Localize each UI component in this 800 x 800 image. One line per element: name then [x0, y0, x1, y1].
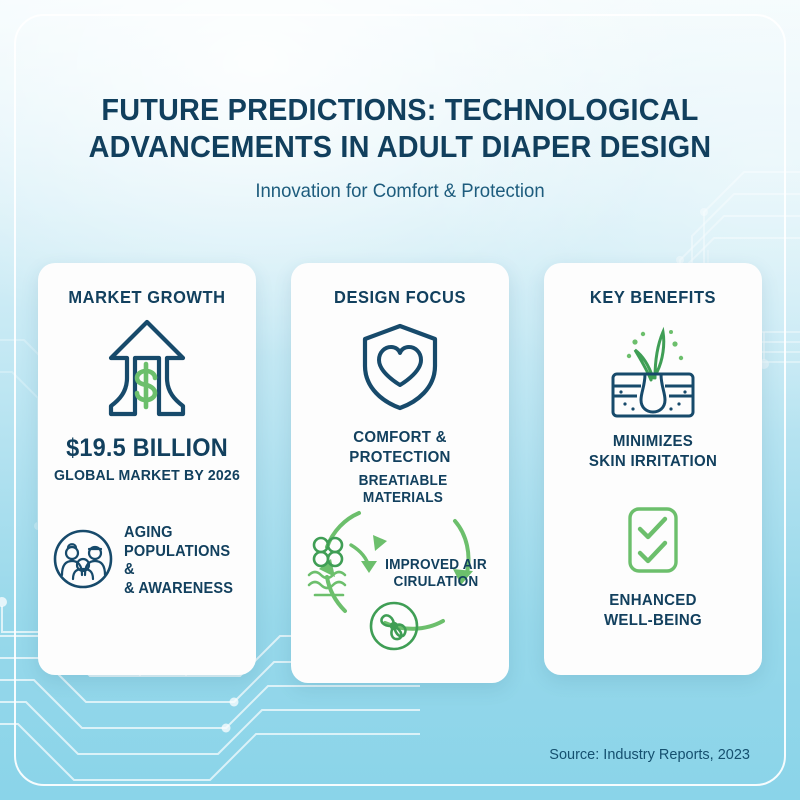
cycle-label-top-line-1: BREATIABLE	[337, 473, 469, 490]
card-title-key-benefits: KEY BENEFITS	[560, 287, 746, 308]
header: FUTURE PREDICTIONS: TECHNOLOGICAL ADVANC…	[0, 92, 800, 203]
cycle-label-breathable-materials: BREATIABLE MATERIALS	[337, 473, 469, 507]
card-market-growth: MARKET GROWTH $19.5 BILLION GLOBAL MARKE…	[38, 263, 256, 675]
page-subtitle: Innovation for Comfort & Protection	[20, 180, 780, 203]
page-title-line-2: ADVANCEMENTS IN ADULT DIAPER DESIGN	[84, 129, 716, 166]
benefit-2-line-2: WELL-BEING	[560, 611, 746, 631]
benefit-2-line-1: ENHANCED	[560, 591, 746, 611]
card-design-focus: DESIGN FOCUS COMFORT & PROTECTION	[291, 263, 509, 683]
cards-row: MARKET GROWTH $19.5 BILLION GLOBAL MARKE…	[38, 263, 762, 683]
page-title-line-1: FUTURE PREDICTIONS: TECHNOLOGICAL	[84, 92, 716, 129]
stat-value-market-size: $19.5 BILLION	[54, 434, 240, 463]
card-key-benefits: KEY BENEFITS	[544, 263, 762, 675]
checklist-icon	[554, 505, 752, 575]
aging-text-line-3: & AWARENESS	[124, 580, 235, 599]
source-attribution: Source: Industry Reports, 2023	[549, 747, 750, 763]
spacer	[554, 471, 752, 505]
caption-line-1: COMFORT &	[307, 428, 493, 448]
air-circulation-cycle-diagram: BREATIABLE MATERIALS IMPROVED AIR CIRULA…	[301, 473, 499, 651]
stat-label-market-size: GLOBAL MARKET BY 2026	[54, 467, 240, 484]
card-title-design-focus: DESIGN FOCUS	[307, 287, 493, 308]
shield-heart-icon	[301, 322, 499, 412]
card-title-market-growth: MARKET GROWTH	[54, 287, 240, 308]
skin-layers-sprout-icon	[554, 322, 752, 420]
aging-populations-text: AGING POPULATIONS & & AWARENESS	[124, 524, 235, 598]
family-group-icon	[52, 528, 114, 595]
benefit-1-line-1: MINIMIZES	[560, 432, 746, 452]
cycle-label-right-line-2: CIRULATION	[379, 574, 494, 591]
caption-line-2: PROTECTION	[307, 448, 493, 468]
cycle-label-top-line-2: MATERIALS	[337, 490, 469, 507]
cycle-label-right-line-1: IMPROVED AIR	[379, 557, 494, 574]
page-title: FUTURE PREDICTIONS: TECHNOLOGICAL ADVANC…	[28, 92, 772, 166]
aging-text-line-2: POPULATIONS &	[124, 543, 235, 580]
benefit-text-enhanced-well-being: ENHANCED WELL-BEING	[560, 591, 746, 630]
cycle-label-improved-air-circulation: IMPROVED AIR CIRULATION	[379, 557, 494, 591]
infographic-canvas: FUTURE PREDICTIONS: TECHNOLOGICAL ADVANC…	[0, 0, 800, 800]
upward-arrow-dollar-icon	[48, 314, 246, 422]
benefit-1-line-2: SKIN IRRITATION	[560, 452, 746, 472]
caption-comfort-protection: COMFORT & PROTECTION	[307, 428, 493, 467]
benefit-text-minimizes-skin-irritation: MINIMIZES SKIN IRRITATION	[560, 432, 746, 471]
aging-populations-row: AGING POPULATIONS & & AWARENESS	[48, 524, 246, 598]
aging-text-line-1: AGING	[124, 524, 235, 543]
